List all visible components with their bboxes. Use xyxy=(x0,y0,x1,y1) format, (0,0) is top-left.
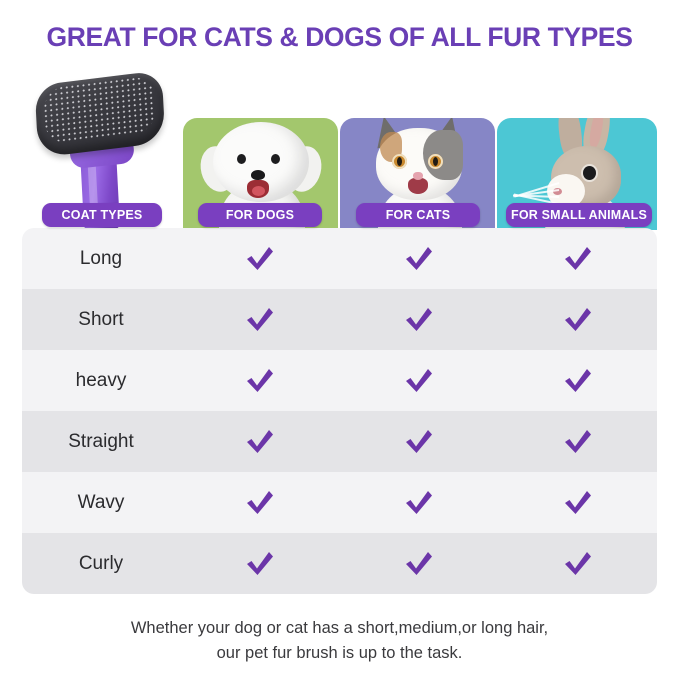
checkmark-icon xyxy=(404,428,434,455)
check-cell-small-animals xyxy=(498,367,657,394)
check-cell-for-dogs xyxy=(180,489,339,516)
check-cell-for-cats xyxy=(339,245,498,272)
coat-type-label: Straight xyxy=(22,431,180,453)
checkmark-icon xyxy=(404,367,434,394)
check-cell-for-dogs xyxy=(180,245,339,272)
check-cell-for-cats xyxy=(339,489,498,516)
checkmark-icon xyxy=(245,306,275,333)
checkmark-icon xyxy=(563,489,593,516)
checkmark-icon xyxy=(245,489,275,516)
coat-type-compatibility-table: Long Short xyxy=(22,228,657,594)
footer-line-2: our pet fur brush is up to the task. xyxy=(0,641,679,666)
table-row: Straight xyxy=(22,411,657,472)
checkmark-icon xyxy=(404,245,434,272)
check-cell-small-animals xyxy=(498,306,657,333)
checkmark-icon xyxy=(404,489,434,516)
check-cell-for-cats xyxy=(339,550,498,577)
checkmark-icon xyxy=(563,550,593,577)
coat-type-label: Long xyxy=(22,248,180,270)
checkmark-icon xyxy=(404,550,434,577)
coat-type-label: heavy xyxy=(22,370,180,392)
checkmark-icon xyxy=(563,428,593,455)
dog-eye-right-icon xyxy=(271,154,280,164)
table-row: Short xyxy=(22,289,657,350)
cat-nose-icon xyxy=(413,172,423,180)
page-title: GREAT FOR CATS & DOGS OF ALL FUR TYPES xyxy=(0,22,679,53)
brush-head-rim-icon xyxy=(35,70,166,158)
check-cell-for-cats xyxy=(339,306,498,333)
check-cell-small-animals xyxy=(498,550,657,577)
dog-tongue-icon xyxy=(252,186,265,196)
table-row: heavy xyxy=(22,350,657,411)
checkmark-icon xyxy=(563,367,593,394)
cat-mouth-icon xyxy=(408,178,428,194)
coat-type-label: Curly xyxy=(22,553,180,575)
coat-type-label: Wavy xyxy=(22,492,180,514)
table-row: Curly xyxy=(22,533,657,594)
check-cell-for-cats xyxy=(339,428,498,455)
column-header-for-dogs: FOR DOGS xyxy=(198,203,322,227)
dog-nose-icon xyxy=(251,170,265,180)
column-header-small-animals: FOR SMALL ANIMALS xyxy=(506,203,652,227)
table-row: Long xyxy=(22,228,657,289)
checkmark-icon xyxy=(245,367,275,394)
check-cell-for-cats xyxy=(339,367,498,394)
check-cell-small-animals xyxy=(498,245,657,272)
table-row: Wavy xyxy=(22,472,657,533)
footer-line-1: Whether your dog or cat has a short,medi… xyxy=(0,616,679,641)
checkmark-icon xyxy=(245,245,275,272)
cat-eye-right-icon xyxy=(428,154,443,169)
checkmark-icon xyxy=(563,245,593,272)
checkmark-icon xyxy=(245,428,275,455)
checkmark-icon xyxy=(404,306,434,333)
check-cell-for-dogs xyxy=(180,428,339,455)
check-cell-for-dogs xyxy=(180,550,339,577)
check-cell-for-dogs xyxy=(180,306,339,333)
checkmark-icon xyxy=(563,306,593,333)
cat-eye-left-icon xyxy=(392,154,407,169)
column-header-for-cats: FOR CATS xyxy=(356,203,480,227)
cat-fur-patch-icon xyxy=(423,130,463,180)
checkmark-icon xyxy=(245,550,275,577)
dog-eye-left-icon xyxy=(237,154,246,164)
check-cell-small-animals xyxy=(498,428,657,455)
column-header-coat-types: COAT TYPES xyxy=(42,203,162,227)
rabbit-eye-icon xyxy=(583,166,596,180)
check-cell-small-animals xyxy=(498,489,657,516)
check-cell-for-dogs xyxy=(180,367,339,394)
coat-type-label: Short xyxy=(22,309,180,331)
footer-caption: Whether your dog or cat has a short,medi… xyxy=(0,616,679,666)
